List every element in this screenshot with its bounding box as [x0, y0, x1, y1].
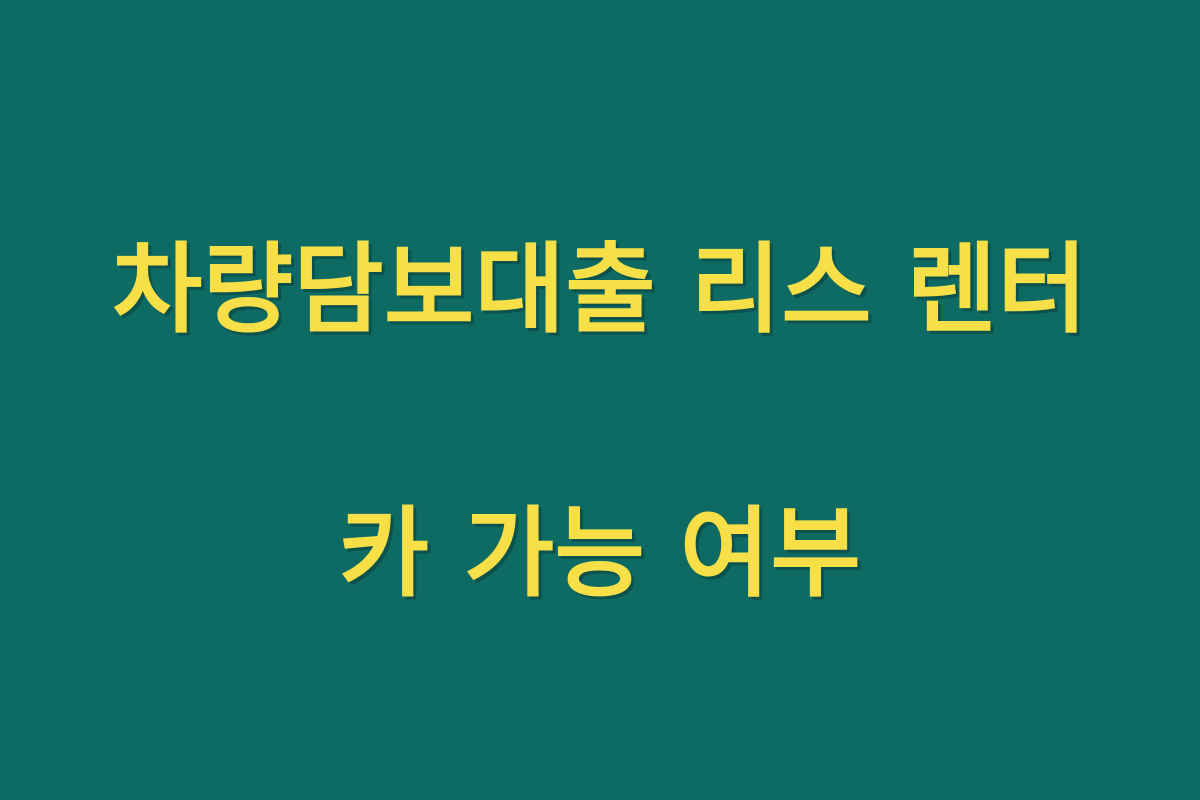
page-title: 차량담보대출 리스 렌터 카 가능 여부	[70, 92, 1130, 752]
title-line-2: 카 가능 여부	[70, 488, 1130, 620]
title-line-1: 차량담보대출 리스 렌터	[70, 224, 1130, 356]
thumbnail-banner: 차량담보대출 리스 렌터 카 가능 여부	[0, 0, 1200, 800]
